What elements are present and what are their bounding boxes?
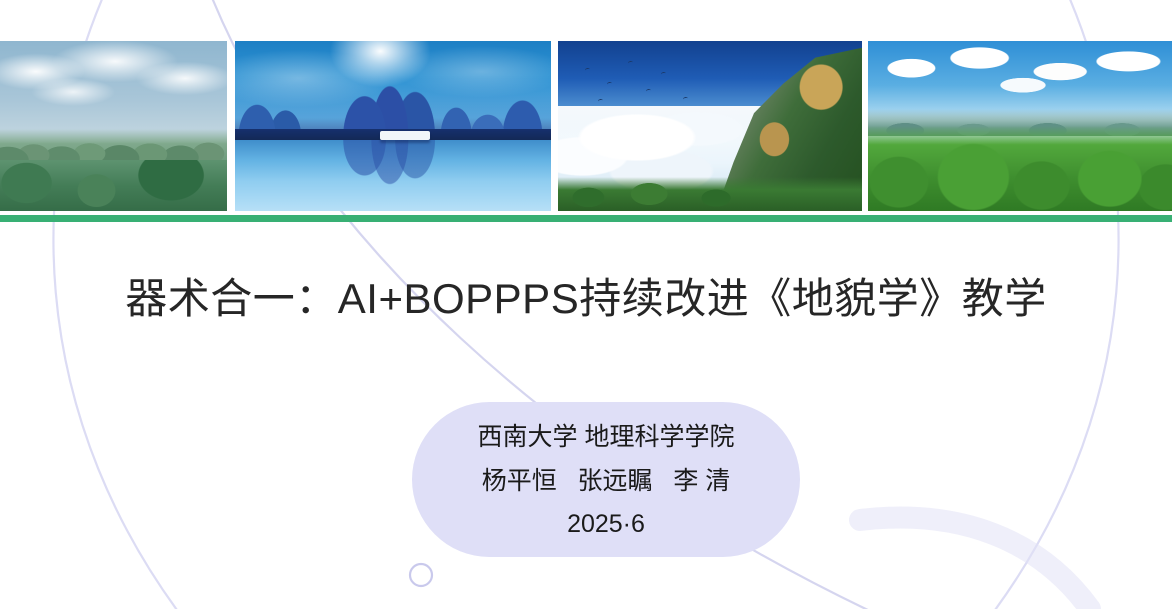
photo-cliff-sea-of-clouds [558, 41, 862, 211]
affiliation-text: 西南大学 地理科学学院 [478, 416, 735, 458]
green-separator-rule [0, 215, 1172, 222]
title-slide: 器术合一：AI+BOPPPS持续改进《地貌学》教学 西南大学 地理科学学院 杨平… [0, 0, 1172, 609]
photo-li-river-blue-karst-reflection [235, 41, 551, 211]
decorative-circle-node [410, 564, 432, 586]
date-text: 2025·6 [567, 504, 645, 544]
page-title: 器术合一：AI+BOPPPS持续改进《地貌学》教学 [0, 273, 1172, 325]
boat-shape [380, 131, 430, 140]
subtitle-panel: 西南大学 地理科学学院 杨平恒 张远瞩 李 清 2025·6 [412, 402, 800, 557]
photo-karst-valley-with-clouds [0, 41, 227, 211]
decorative-blob-bottom-right [860, 518, 1090, 609]
photo-green-karst-hills [868, 41, 1172, 211]
photo-strip [0, 41, 1172, 211]
authors-text: 杨平恒 张远瞩 李 清 [482, 460, 731, 502]
